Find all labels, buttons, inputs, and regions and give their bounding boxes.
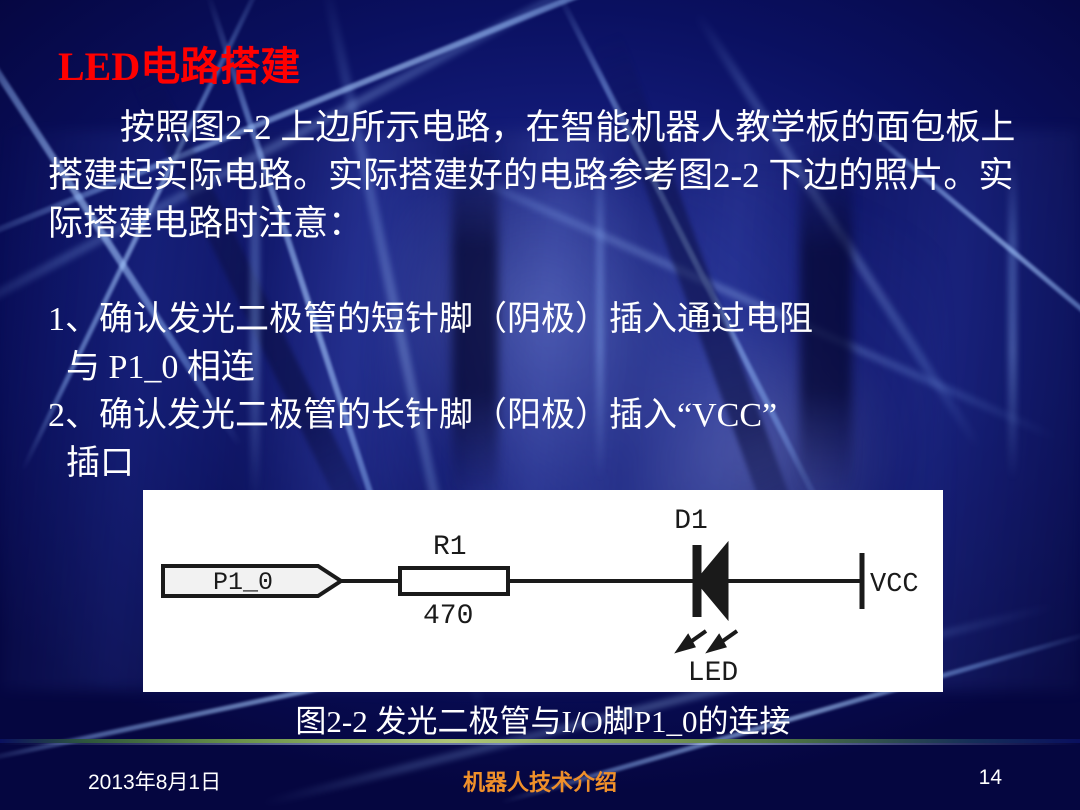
resistor-value-label: 470 bbox=[423, 601, 473, 632]
page-number: 14 bbox=[979, 766, 1002, 790]
footer-center-text: 机器人技术介绍 bbox=[0, 765, 1080, 797]
body-paragraph: 按照图2-2 上边所示电路，在智能机器人教学板的面包板上搭建起实际电路。实际搭建… bbox=[48, 104, 1048, 248]
footer-divider-highlight bbox=[0, 743, 1080, 745]
slide-footer: 2013年8月1日 机器人技术介绍 14 bbox=[0, 752, 1080, 810]
led-diode-symbol bbox=[697, 545, 727, 617]
bullet-2-continuation: 插口 bbox=[48, 440, 1058, 488]
page-title: LED电路搭建 bbox=[58, 34, 300, 92]
led-emission-arrows bbox=[679, 631, 737, 650]
figure-caption: 图2-2 发光二极管与I/O脚P1_0的连接 bbox=[143, 696, 943, 741]
diode-type-label: LED bbox=[688, 658, 738, 689]
bullet-2-lead: 2、确认发光二极管的长针脚（阳极）插入“VCC” bbox=[48, 397, 777, 434]
list-item: 2、确认发光二极管的长针脚（阳极）插入“VCC” 插口 bbox=[48, 392, 1058, 488]
diode-ref-label: D1 bbox=[674, 506, 708, 537]
bullet-1-lead: 1、确认发光二极管的短针脚（阴极）插入通过电阻 bbox=[48, 301, 813, 338]
bullet-list: 1、确认发光二极管的短针脚（阴极）插入通过电阻 与 P1_0 相连 2、确认发光… bbox=[48, 296, 1058, 488]
vcc-label: VCC bbox=[870, 570, 919, 600]
port-label: P1_0 bbox=[213, 568, 273, 597]
bullet-1-continuation: 与 P1_0 相连 bbox=[48, 344, 1058, 392]
resistor-ref-label: R1 bbox=[433, 532, 467, 563]
slide: LED电路搭建 按照图2-2 上边所示电路，在智能机器人教学板的面包板上搭建起实… bbox=[0, 0, 1080, 810]
circuit-diagram-panel: P1_0 R1 470 D1 LED VCC bbox=[143, 490, 943, 692]
list-item: 1、确认发光二极管的短针脚（阴极）插入通过电阻 与 P1_0 相连 bbox=[48, 296, 1058, 392]
resistor-body bbox=[400, 568, 508, 594]
circuit-schematic-svg: P1_0 R1 470 D1 LED VCC bbox=[143, 490, 943, 692]
